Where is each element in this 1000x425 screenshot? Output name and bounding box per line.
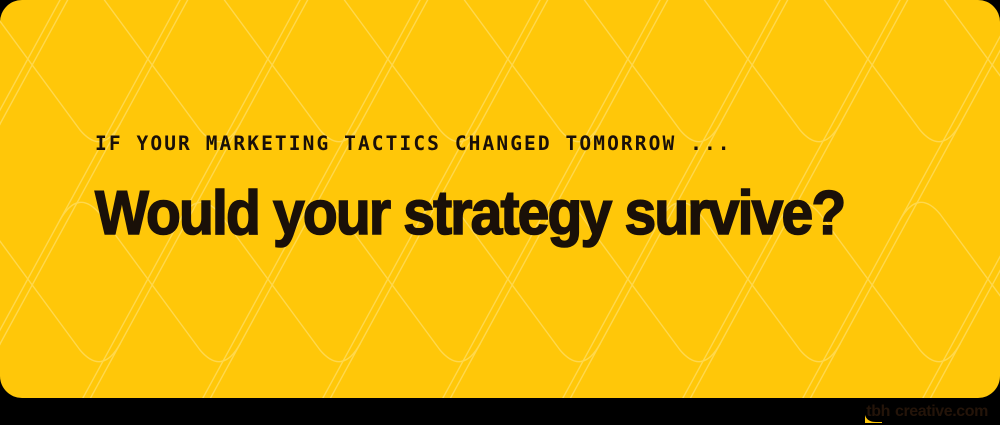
watermark: tbh creative.com xyxy=(866,398,988,425)
hero-headline: Would your strategy survive? xyxy=(95,183,859,245)
tbh-logo: tbh xyxy=(866,402,890,422)
hero-eyebrow-text: IF YOUR MARKETING TACTICS CHANGED TOMORR… xyxy=(95,132,925,155)
screenshot-canvas: IF YOUR MARKETING TACTICS CHANGED TOMORR… xyxy=(0,0,1000,425)
watermark-domain-text: creative.com xyxy=(895,403,988,421)
swoosh-icon xyxy=(865,415,882,423)
footer-band: tbh creative.com xyxy=(0,398,1000,425)
hero-banner-card: IF YOUR MARKETING TACTICS CHANGED TOMORR… xyxy=(0,0,1000,398)
hero-copy-block: IF YOUR MARKETING TACTICS CHANGED TOMORR… xyxy=(95,132,925,245)
